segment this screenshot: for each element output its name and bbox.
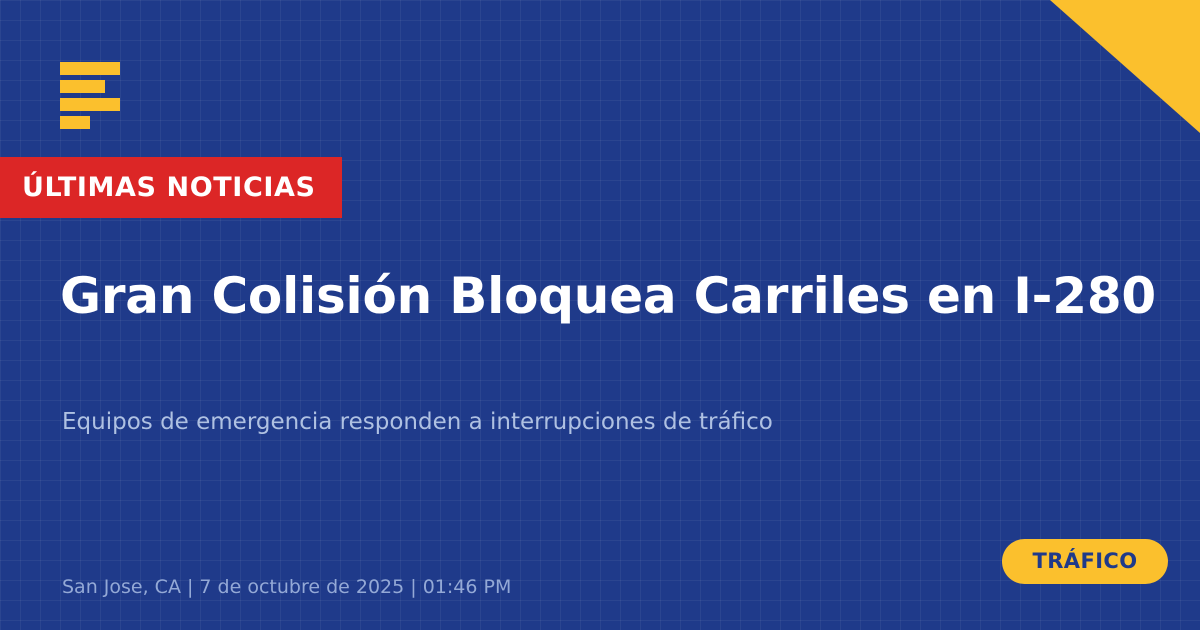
subtitle: Equipos de emergencia responden a interr… [62, 407, 1102, 438]
breaking-news-badge: ÚLTIMAS NOTICIAS [0, 157, 342, 218]
logo-bar-3 [60, 98, 120, 111]
logo-bar-4 [60, 116, 90, 129]
category-label: TRÁFICO [1033, 551, 1138, 572]
logo-bar-1 [60, 62, 120, 75]
headline: Gran Colisión Bloquea Carriles en I-280 [60, 268, 1190, 324]
breaking-news-label: ÚLTIMAS NOTICIAS [22, 174, 316, 201]
logo-bar-2 [60, 80, 105, 93]
news-graphic-card: ÚLTIMAS NOTICIAS Gran Colisión Bloquea C… [0, 0, 1200, 630]
category-badge: TRÁFICO [1002, 539, 1168, 584]
brand-logo [60, 62, 120, 129]
meta-line: San Jose, CA | 7 de octubre de 2025 | 01… [62, 576, 511, 598]
corner-wedge-decoration [1050, 0, 1200, 133]
